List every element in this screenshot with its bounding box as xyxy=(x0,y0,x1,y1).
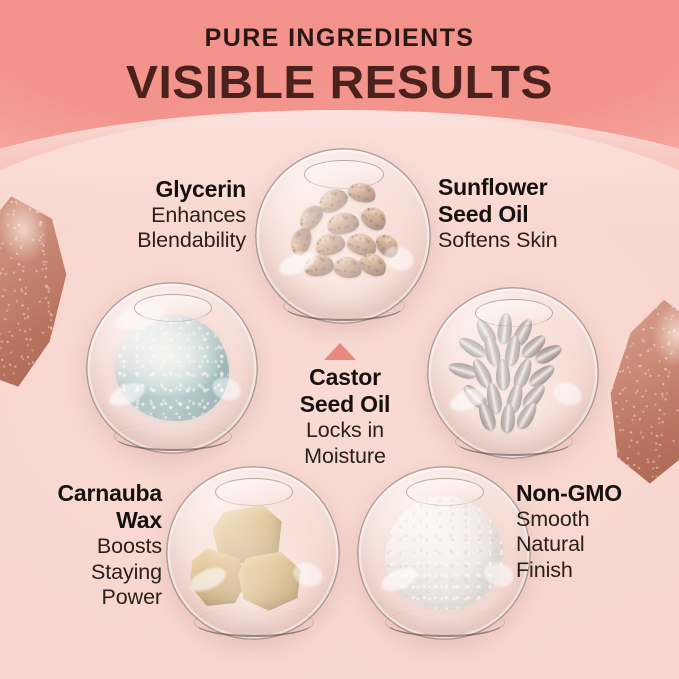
ingredient-name: Glycerin xyxy=(86,176,246,203)
ingredient-benefit-line: Boosts xyxy=(14,534,162,559)
glass-sphere xyxy=(357,466,531,640)
arrow-up-icon xyxy=(324,343,356,360)
label-sunflower-seed-oil: Sunflower Seed Oil Softens Skin xyxy=(438,174,603,254)
ingredient-name-line: Wax xyxy=(14,507,162,534)
ingredient-benefit-line: Smooth xyxy=(516,507,671,532)
label-non-gmo: Non-GMO Smooth Natural Finish xyxy=(516,480,671,583)
ingredient-name: Non-GMO xyxy=(516,480,671,507)
glass-sphere xyxy=(427,287,599,459)
ingredient-name-line: Carnauba xyxy=(14,480,162,507)
ingredient-sphere-sunflower-seed-oil xyxy=(427,287,599,459)
ingredient-benefit-line: Staying xyxy=(14,560,162,585)
ingredient-benefit-line: Power xyxy=(14,585,162,610)
ingredient-benefit-line: Softens Skin xyxy=(438,228,603,253)
ingredient-name-line: Seed Oil xyxy=(279,391,411,418)
header-kicker: PURE INGREDIENTS xyxy=(0,26,679,51)
ingredient-benefit-line: Blendability xyxy=(86,228,246,253)
ingredient-name-line: Seed Oil xyxy=(438,201,603,228)
label-glycerin: Glycerin Enhances Blendability xyxy=(86,176,246,254)
ingredient-sphere-glycerin xyxy=(86,282,258,454)
glass-sphere xyxy=(255,148,431,324)
header: PURE INGREDIENTS VISIBLE RESULTS xyxy=(0,0,679,105)
label-castor-seed-oil: Castor Seed Oil Locks in Moisture xyxy=(279,364,411,469)
ingredient-benefit-line: Moisture xyxy=(279,444,411,469)
ingredient-benefit-line: Locks in xyxy=(279,418,411,443)
ingredient-infographic: PURE INGREDIENTS VISIBLE RESULTS xyxy=(0,0,679,679)
ingredient-benefit-line: Natural xyxy=(516,532,671,557)
glass-sphere xyxy=(86,282,258,454)
ingredient-sphere-castor-seed-oil xyxy=(255,148,431,324)
ingredient-benefit-line: Finish xyxy=(516,558,671,583)
ingredient-sphere-carnauba-wax xyxy=(166,466,340,640)
ingredient-sphere-non-gmo xyxy=(357,466,531,640)
glass-sphere xyxy=(166,466,340,640)
ingredient-benefit-line: Enhances xyxy=(86,203,246,228)
label-carnauba-wax: Carnauba Wax Boosts Staying Power xyxy=(14,480,162,610)
header-headline: VISIBLE RESULTS xyxy=(0,59,679,105)
ingredient-name-line: Sunflower xyxy=(438,174,603,201)
ingredient-name-line: Castor xyxy=(279,364,411,391)
